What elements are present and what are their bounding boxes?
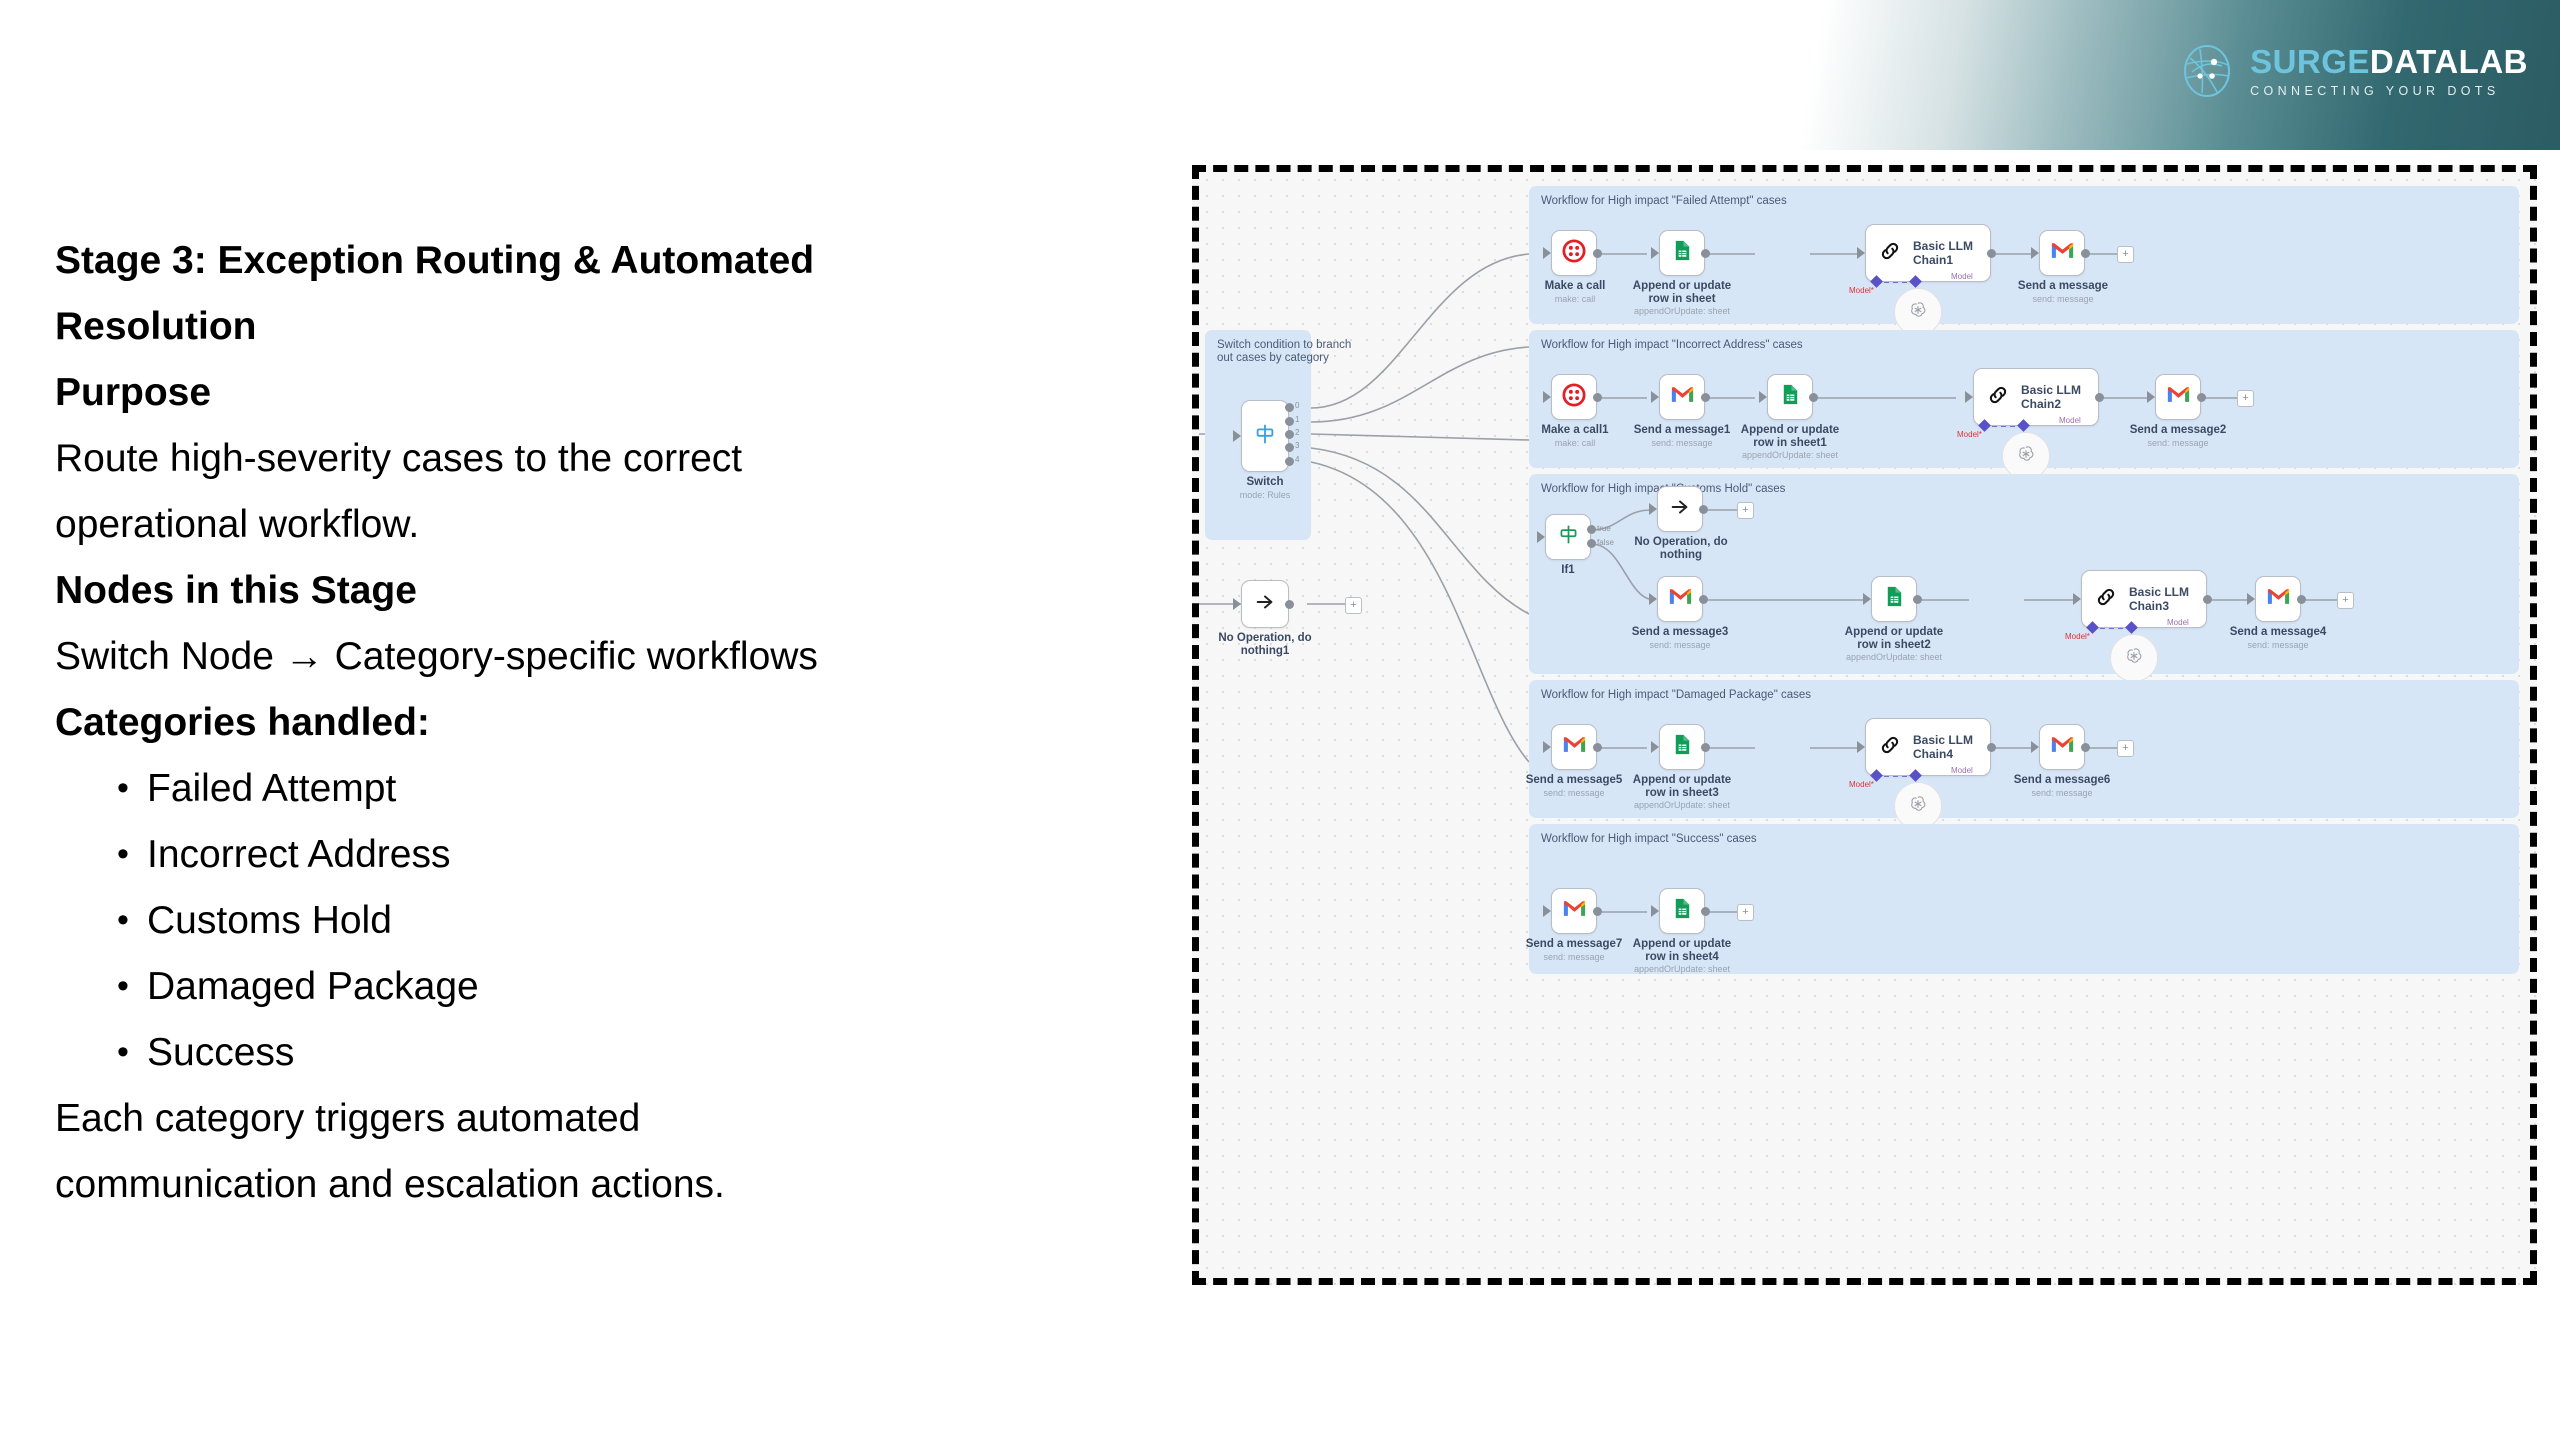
switch-output-port-4[interactable] xyxy=(1285,457,1294,466)
gmail-icon xyxy=(1668,587,1693,612)
node-send-message-4-sub: send: message xyxy=(1629,640,1731,651)
switch-output-port-2[interactable] xyxy=(1285,430,1294,439)
noop-standalone-output-port[interactable] xyxy=(1285,600,1294,609)
node-send-message-2-sub: send: message xyxy=(1631,438,1733,449)
send-message-5-input-port xyxy=(2247,593,2255,605)
node-no-operation[interactable] xyxy=(1657,486,1703,532)
list-item: Customs Hold xyxy=(55,888,1115,954)
node-append-sheet-5[interactable] xyxy=(1659,888,1705,934)
switch-port-label-3: 3 xyxy=(1295,441,1299,450)
purpose-heading: Purpose xyxy=(55,360,1115,426)
page-title-line1: Stage 3: Exception Routing & Automated xyxy=(55,228,1115,294)
node-basic-llm-chain-1-label: Basic LLM Chain1 xyxy=(1913,239,1990,267)
list-item: Incorrect Address xyxy=(55,822,1115,888)
list-item: Failed Attempt xyxy=(55,756,1115,822)
node-send-message-3-sub: send: message xyxy=(2127,438,2229,449)
add-node-button[interactable]: + xyxy=(1737,502,1754,519)
basic-llm-chain-3-output-port[interactable] xyxy=(2203,595,2212,604)
noop-standalone-label-line1: No Operation, do xyxy=(1218,632,1311,644)
switch-annotation: Switch condition to branch out cases by … xyxy=(1217,339,1351,365)
node-append-sheet-5-label: Append or update row in sheet4 xyxy=(1627,938,1737,964)
switch-port-label-0: 0 xyxy=(1295,401,1299,410)
switch-output-port-3[interactable] xyxy=(1285,443,1294,452)
basic-llm-chain-2-output-port[interactable] xyxy=(2095,393,2104,402)
workflow-title: Workflow for High impact "Failed Attempt… xyxy=(1541,195,1787,207)
purpose-text-line1: Route high-severity cases to the correct xyxy=(55,426,1115,492)
llm-chain-1-model-required-label: Model* xyxy=(1849,286,1874,295)
node-send-message-6-label: Send a message5 xyxy=(1523,774,1625,787)
send-message-5-output-port[interactable] xyxy=(2297,595,2306,604)
list-item: Damaged Package xyxy=(55,954,1115,1020)
send-message-4-output-port[interactable] xyxy=(1699,595,1708,604)
node-openai-chat-model-3[interactable] xyxy=(2110,634,2158,682)
node-switch[interactable] xyxy=(1241,400,1289,472)
node-openai-chat-model-1[interactable] xyxy=(1894,288,1942,336)
openai-icon xyxy=(2016,444,2036,469)
node-send-message-8-label: Send a message7 xyxy=(1523,938,1625,951)
logo: SURGEDATALAB CONNECTING YOUR DOTS xyxy=(2178,42,2528,100)
send-message-3-input-port xyxy=(2147,391,2155,403)
node-send-message-7-sub: send: message xyxy=(2011,788,2113,799)
node-send-message-7-label: Send a message6 xyxy=(2011,774,2113,787)
basic-llm-chain-2-input-port xyxy=(1965,391,1973,403)
send-message-8-input-port xyxy=(1543,905,1551,917)
purpose-text-line2: operational workflow. xyxy=(55,492,1115,558)
google-sheets-icon xyxy=(1671,733,1694,761)
switch-annotation-line2: out cases by category xyxy=(1217,352,1329,364)
chain-link-icon xyxy=(2094,585,2118,614)
send-message-1-input-port xyxy=(2031,247,2039,259)
node-basic-llm-chain-4-label: Basic LLM Chain4 xyxy=(1913,733,1990,761)
node-send-message-5-sub: send: message xyxy=(2227,640,2329,651)
logo-wordmark-datalab: DATALAB xyxy=(2370,43,2528,80)
llm-chain-1-model-label: Model xyxy=(1951,272,1973,281)
llm-chain-4-model-required-label: Model* xyxy=(1849,780,1874,789)
node-send-message-2[interactable] xyxy=(1659,374,1705,420)
if-1-true-port[interactable] xyxy=(1587,525,1596,534)
basic-llm-chain-4-input-port xyxy=(1857,741,1865,753)
footer-text-line1: Each category triggers automated xyxy=(55,1086,1115,1152)
node-append-sheet-1[interactable] xyxy=(1659,230,1705,276)
append-sheet-5-input-port xyxy=(1651,905,1659,917)
gmail-icon xyxy=(2050,735,2075,760)
node-send-message-4[interactable] xyxy=(1657,576,1703,622)
twilio-icon xyxy=(1562,383,1586,412)
nodes-text: Switch Node → Category-specific workflow… xyxy=(55,624,1115,690)
node-send-message-3[interactable] xyxy=(2155,374,2201,420)
node-make-a-call-label: Make a call xyxy=(1529,280,1621,293)
node-append-sheet-4-label: Append or update row in sheet3 xyxy=(1627,774,1737,800)
node-no-operation-label: No Operation, do nothing xyxy=(1617,536,1745,562)
node-append-sheet-5-sub: appendOrUpdate: sheet xyxy=(1619,964,1745,975)
append-sheet-2-output-port[interactable] xyxy=(1809,393,1818,402)
if-1-input-port xyxy=(1537,531,1545,543)
switch-annotation-line1: Switch condition to branch xyxy=(1217,339,1351,351)
node-send-message-1-label: Send a message xyxy=(2011,280,2115,293)
switch-input-port xyxy=(1233,430,1241,442)
switch-output-port-1[interactable] xyxy=(1285,417,1294,426)
node-append-sheet-3[interactable] xyxy=(1871,576,1917,622)
basic-llm-chain-1-input-port xyxy=(1857,247,1865,259)
add-node-button[interactable]: + xyxy=(2117,740,2134,757)
llm-chain-2-model-required-label: Model* xyxy=(1957,430,1982,439)
append-sheet-3-output-port[interactable] xyxy=(1913,595,1922,604)
add-node-button[interactable]: + xyxy=(2117,246,2134,263)
gmail-icon xyxy=(2266,587,2291,612)
node-make-a-call[interactable] xyxy=(1551,230,1597,276)
node-append-sheet-3-label: Append or update row in sheet2 xyxy=(1839,626,1949,652)
append-sheet-4-output-port[interactable] xyxy=(1701,743,1710,752)
make-a-call-1-input-port xyxy=(1543,391,1551,403)
logo-wordmark-surge: SURGE xyxy=(2250,43,2370,80)
noop-standalone-input-port xyxy=(1233,598,1241,610)
switch-signpost-icon xyxy=(1557,523,1580,551)
make-a-call-1-output-port[interactable] xyxy=(1593,393,1602,402)
llm-chain-4-model-label: Model xyxy=(1951,766,1973,775)
categories-list: Failed Attempt Incorrect Address Customs… xyxy=(55,756,1115,1086)
no-operation-output-port[interactable] xyxy=(1699,505,1708,514)
workflow-canvas[interactable]: Switch condition to branch out cases by … xyxy=(1192,165,2537,1285)
node-append-sheet-1-sub: appendOrUpdate: sheet xyxy=(1619,306,1745,317)
node-append-sheet-4[interactable] xyxy=(1659,724,1705,770)
logo-wordmark: SURGEDATALAB xyxy=(2250,45,2528,78)
node-append-sheet-2[interactable] xyxy=(1767,374,1813,420)
openai-icon xyxy=(1908,300,1928,325)
google-sheets-icon xyxy=(1883,585,1906,613)
send-message-4-input-port xyxy=(1649,593,1657,605)
surge-globe-icon xyxy=(2178,42,2236,100)
node-send-message-1[interactable] xyxy=(2039,230,2085,276)
append-sheet-3-input-port xyxy=(1863,593,1871,605)
node-send-message-4-label: Send a message3 xyxy=(1629,626,1731,639)
header-brand-band: SURGEDATALAB CONNECTING YOUR DOTS xyxy=(1700,0,2560,150)
append-sheet-1-output-port[interactable] xyxy=(1701,249,1710,258)
switch-port-label-4: 4 xyxy=(1295,455,1299,464)
google-sheets-icon xyxy=(1671,239,1694,267)
send-message-8-output-port[interactable] xyxy=(1593,907,1602,916)
chain-link-icon xyxy=(1878,239,1902,268)
arrow-right-icon xyxy=(1254,591,1276,618)
gmail-icon xyxy=(1670,385,1695,410)
llm-chain-3-model-required-label: Model* xyxy=(2065,632,2090,641)
make-a-call-output-port[interactable] xyxy=(1593,249,1602,258)
node-openai-chat-model-2[interactable] xyxy=(2002,432,2050,480)
node-no-operation-standalone-label: No Operation, do nothing1 xyxy=(1213,632,1317,658)
node-make-a-call-sub: make: call xyxy=(1529,294,1621,305)
node-basic-llm-chain-2-label: Basic LLM Chain2 xyxy=(2021,383,2098,411)
node-append-sheet-3-sub: appendOrUpdate: sheet xyxy=(1831,652,1957,663)
switch-port-label-1: 1 xyxy=(1295,415,1299,424)
footer-text-line2: communication and escalation actions. xyxy=(55,1152,1115,1218)
workflow-title: Workflow for High impact "Damaged Packag… xyxy=(1541,689,1811,701)
list-item: Success xyxy=(55,1020,1115,1086)
node-send-message-5[interactable] xyxy=(2255,576,2301,622)
if-1-true-label: true xyxy=(1597,524,1611,533)
node-no-operation-standalone[interactable] xyxy=(1241,580,1289,628)
node-if-1-label: If1 xyxy=(1529,564,1607,577)
page-title-line2: Resolution xyxy=(55,294,1115,360)
chain-link-icon xyxy=(1986,383,2010,412)
append-sheet-2-input-port xyxy=(1759,391,1767,403)
node-send-message-8-sub: send: message xyxy=(1523,952,1625,963)
node-append-sheet-2-label: Append or update row in sheet1 xyxy=(1735,424,1845,450)
append-sheet-1-input-port xyxy=(1651,247,1659,259)
node-send-message-7[interactable] xyxy=(2039,724,2085,770)
node-basic-llm-chain-3-label: Basic LLM Chain3 xyxy=(2129,585,2206,613)
node-send-message-3-label: Send a message2 xyxy=(2127,424,2229,437)
node-send-message-6[interactable] xyxy=(1551,724,1597,770)
send-message-1-output-port[interactable] xyxy=(2081,249,2090,258)
no-operation-input-port xyxy=(1649,503,1657,515)
node-make-a-call-1-sub: make: call xyxy=(1529,438,1621,449)
node-send-message-8[interactable] xyxy=(1551,888,1597,934)
twilio-icon xyxy=(1562,239,1586,268)
node-send-message-5-label: Send a message4 xyxy=(2227,626,2329,639)
add-node-button[interactable]: + xyxy=(2337,592,2354,609)
google-sheets-icon xyxy=(1779,383,1802,411)
add-node-button[interactable]: + xyxy=(2237,390,2254,407)
openai-icon xyxy=(1908,794,1928,819)
send-message-6-input-port xyxy=(1543,741,1551,753)
switch-port-label-2: 2 xyxy=(1295,428,1299,437)
gmail-icon xyxy=(2050,241,2075,266)
gmail-icon xyxy=(2166,385,2191,410)
llm-chain-2-model-label: Model xyxy=(2059,416,2081,425)
node-append-sheet-4-sub: appendOrUpdate: sheet xyxy=(1619,800,1745,811)
workflow-title: Workflow for High impact "Incorrect Addr… xyxy=(1541,339,1803,351)
basic-llm-chain-1-output-port[interactable] xyxy=(1987,249,1996,258)
basic-llm-chain-3-input-port xyxy=(2073,593,2081,605)
if-1-false-label: false xyxy=(1597,538,1614,547)
gmail-icon xyxy=(1562,735,1587,760)
add-node-button[interactable]: + xyxy=(1345,597,1362,614)
send-message-7-output-port[interactable] xyxy=(2081,743,2090,752)
send-message-7-input-port xyxy=(2031,741,2039,753)
switch-output-port-0[interactable] xyxy=(1285,403,1294,412)
node-switch-sub: mode: Rules xyxy=(1221,490,1309,501)
openai-icon xyxy=(2124,646,2144,671)
gmail-icon xyxy=(1562,899,1587,924)
add-node-button[interactable]: + xyxy=(1737,904,1754,921)
send-message-3-output-port[interactable] xyxy=(2197,393,2206,402)
workflow-title: Workflow for High impact "Success" cases xyxy=(1541,833,1757,845)
slide-text-column: Stage 3: Exception Routing & Automated R… xyxy=(55,228,1115,1218)
send-message-2-output-port[interactable] xyxy=(1701,393,1710,402)
node-make-a-call-1-label: Make a call1 xyxy=(1529,424,1621,437)
node-append-sheet-2-sub: appendOrUpdate: sheet xyxy=(1727,450,1853,461)
node-send-message-6-sub: send: message xyxy=(1523,788,1625,799)
google-sheets-icon xyxy=(1671,897,1694,925)
node-send-message-2-label: Send a message1 xyxy=(1631,424,1733,437)
node-switch-label: Switch xyxy=(1221,476,1309,489)
append-sheet-4-input-port xyxy=(1651,741,1659,753)
append-sheet-5-output-port[interactable] xyxy=(1701,907,1710,916)
if-1-false-port[interactable] xyxy=(1587,539,1596,548)
node-append-sheet-1-label: Append or update row in sheet xyxy=(1627,280,1737,306)
send-message-2-input-port xyxy=(1651,391,1659,403)
basic-llm-chain-4-output-port[interactable] xyxy=(1987,743,1996,752)
categories-heading: Categories handled: xyxy=(55,690,1115,756)
node-make-a-call-1[interactable] xyxy=(1551,374,1597,420)
switch-signpost-icon xyxy=(1253,422,1277,451)
logo-tagline: CONNECTING YOUR DOTS xyxy=(2250,85,2528,98)
workflow-canvas-inner: Switch condition to branch out cases by … xyxy=(1199,172,2530,1278)
chain-link-icon xyxy=(1878,733,1902,762)
node-openai-chat-model-4[interactable] xyxy=(1894,782,1942,830)
arrow-right-icon xyxy=(1669,496,1691,523)
noop-standalone-label-line2: nothing1 xyxy=(1241,645,1290,657)
llm-chain-3-model-label: Model xyxy=(2167,618,2189,627)
make-a-call-input-port xyxy=(1543,247,1551,259)
node-if-1[interactable] xyxy=(1545,514,1591,560)
node-send-message-1-sub: send: message xyxy=(2011,294,2115,305)
send-message-6-output-port[interactable] xyxy=(1593,743,1602,752)
nodes-heading: Nodes in this Stage xyxy=(55,558,1115,624)
